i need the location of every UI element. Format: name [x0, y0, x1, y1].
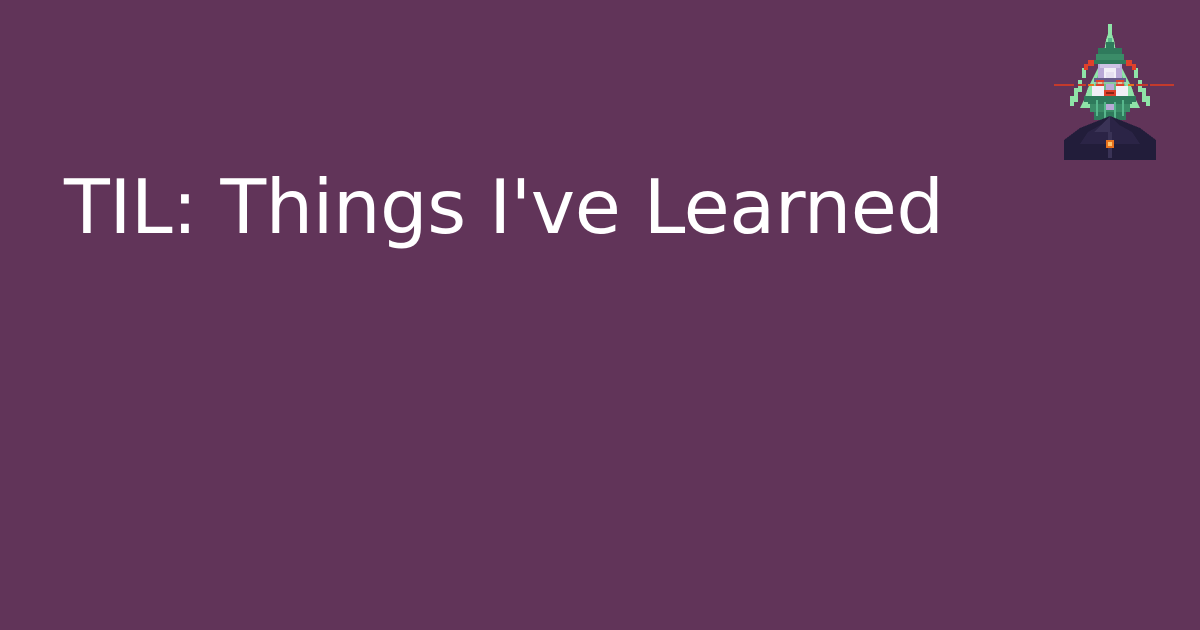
face-group — [1092, 64, 1128, 96]
pixel-avatar-icon — [1040, 20, 1180, 160]
title-block: TIL: Things I've Learned — [64, 168, 964, 248]
og-card: TIL: Things I've Learned — [0, 0, 1200, 630]
site-logo[interactable] — [1040, 20, 1180, 160]
page-title: TIL: Things I've Learned — [64, 168, 964, 248]
shoulders-group — [1064, 116, 1156, 160]
